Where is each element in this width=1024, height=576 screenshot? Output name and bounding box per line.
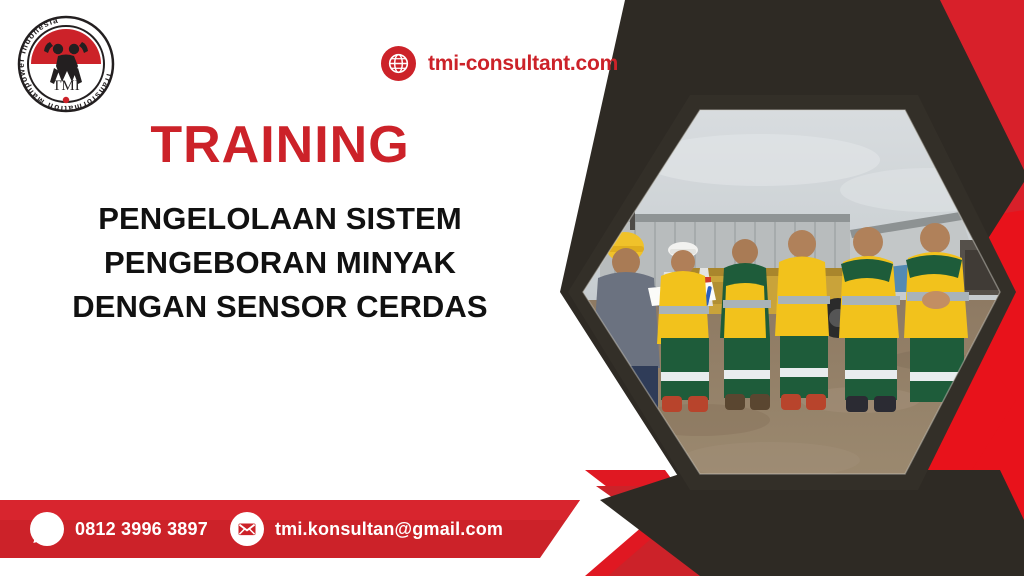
course-title-line-3: DENGAN SENSOR CERDAS [0, 285, 560, 329]
headline-block: TRAINING PENGELOLAAN SISTEM PENGEBORAN M… [0, 118, 560, 329]
globe-icon [381, 46, 416, 81]
envelope-icon [230, 512, 264, 546]
email-address[interactable]: tmi.konsultan@gmail.com [275, 519, 503, 540]
eyebrow-training: TRAINING [0, 118, 560, 173]
course-title-line-1: PENGELOLAAN SISTEM [0, 197, 560, 241]
logo-initials: TMI [52, 78, 80, 94]
website-url[interactable]: tmi-consultant.com [428, 52, 618, 76]
website-row[interactable]: tmi-consultant.com [381, 46, 618, 81]
course-title: PENGELOLAAN SISTEM PENGEBORAN MINYAK DEN… [0, 197, 560, 329]
email-contact[interactable]: tmi.konsultan@gmail.com [230, 512, 503, 546]
course-title-line-2: PENGEBORAN MINYAK [0, 241, 560, 285]
whatsapp-contact[interactable]: 0812 3996 3897 [30, 512, 208, 546]
company-logo[interactable]: TMI Transformation Manpower Indonesia [14, 12, 118, 116]
contact-row: 0812 3996 3897 tmi.konsultan@gmail.com [30, 500, 503, 558]
tmi-logo-icon: TMI Transformation Manpower Indonesia [14, 12, 118, 116]
whatsapp-icon [30, 512, 64, 546]
whatsapp-number[interactable]: 0812 3996 3897 [75, 519, 208, 540]
banner-canvas: TMI Transformation Manpower Indonesia tm… [0, 0, 1024, 576]
